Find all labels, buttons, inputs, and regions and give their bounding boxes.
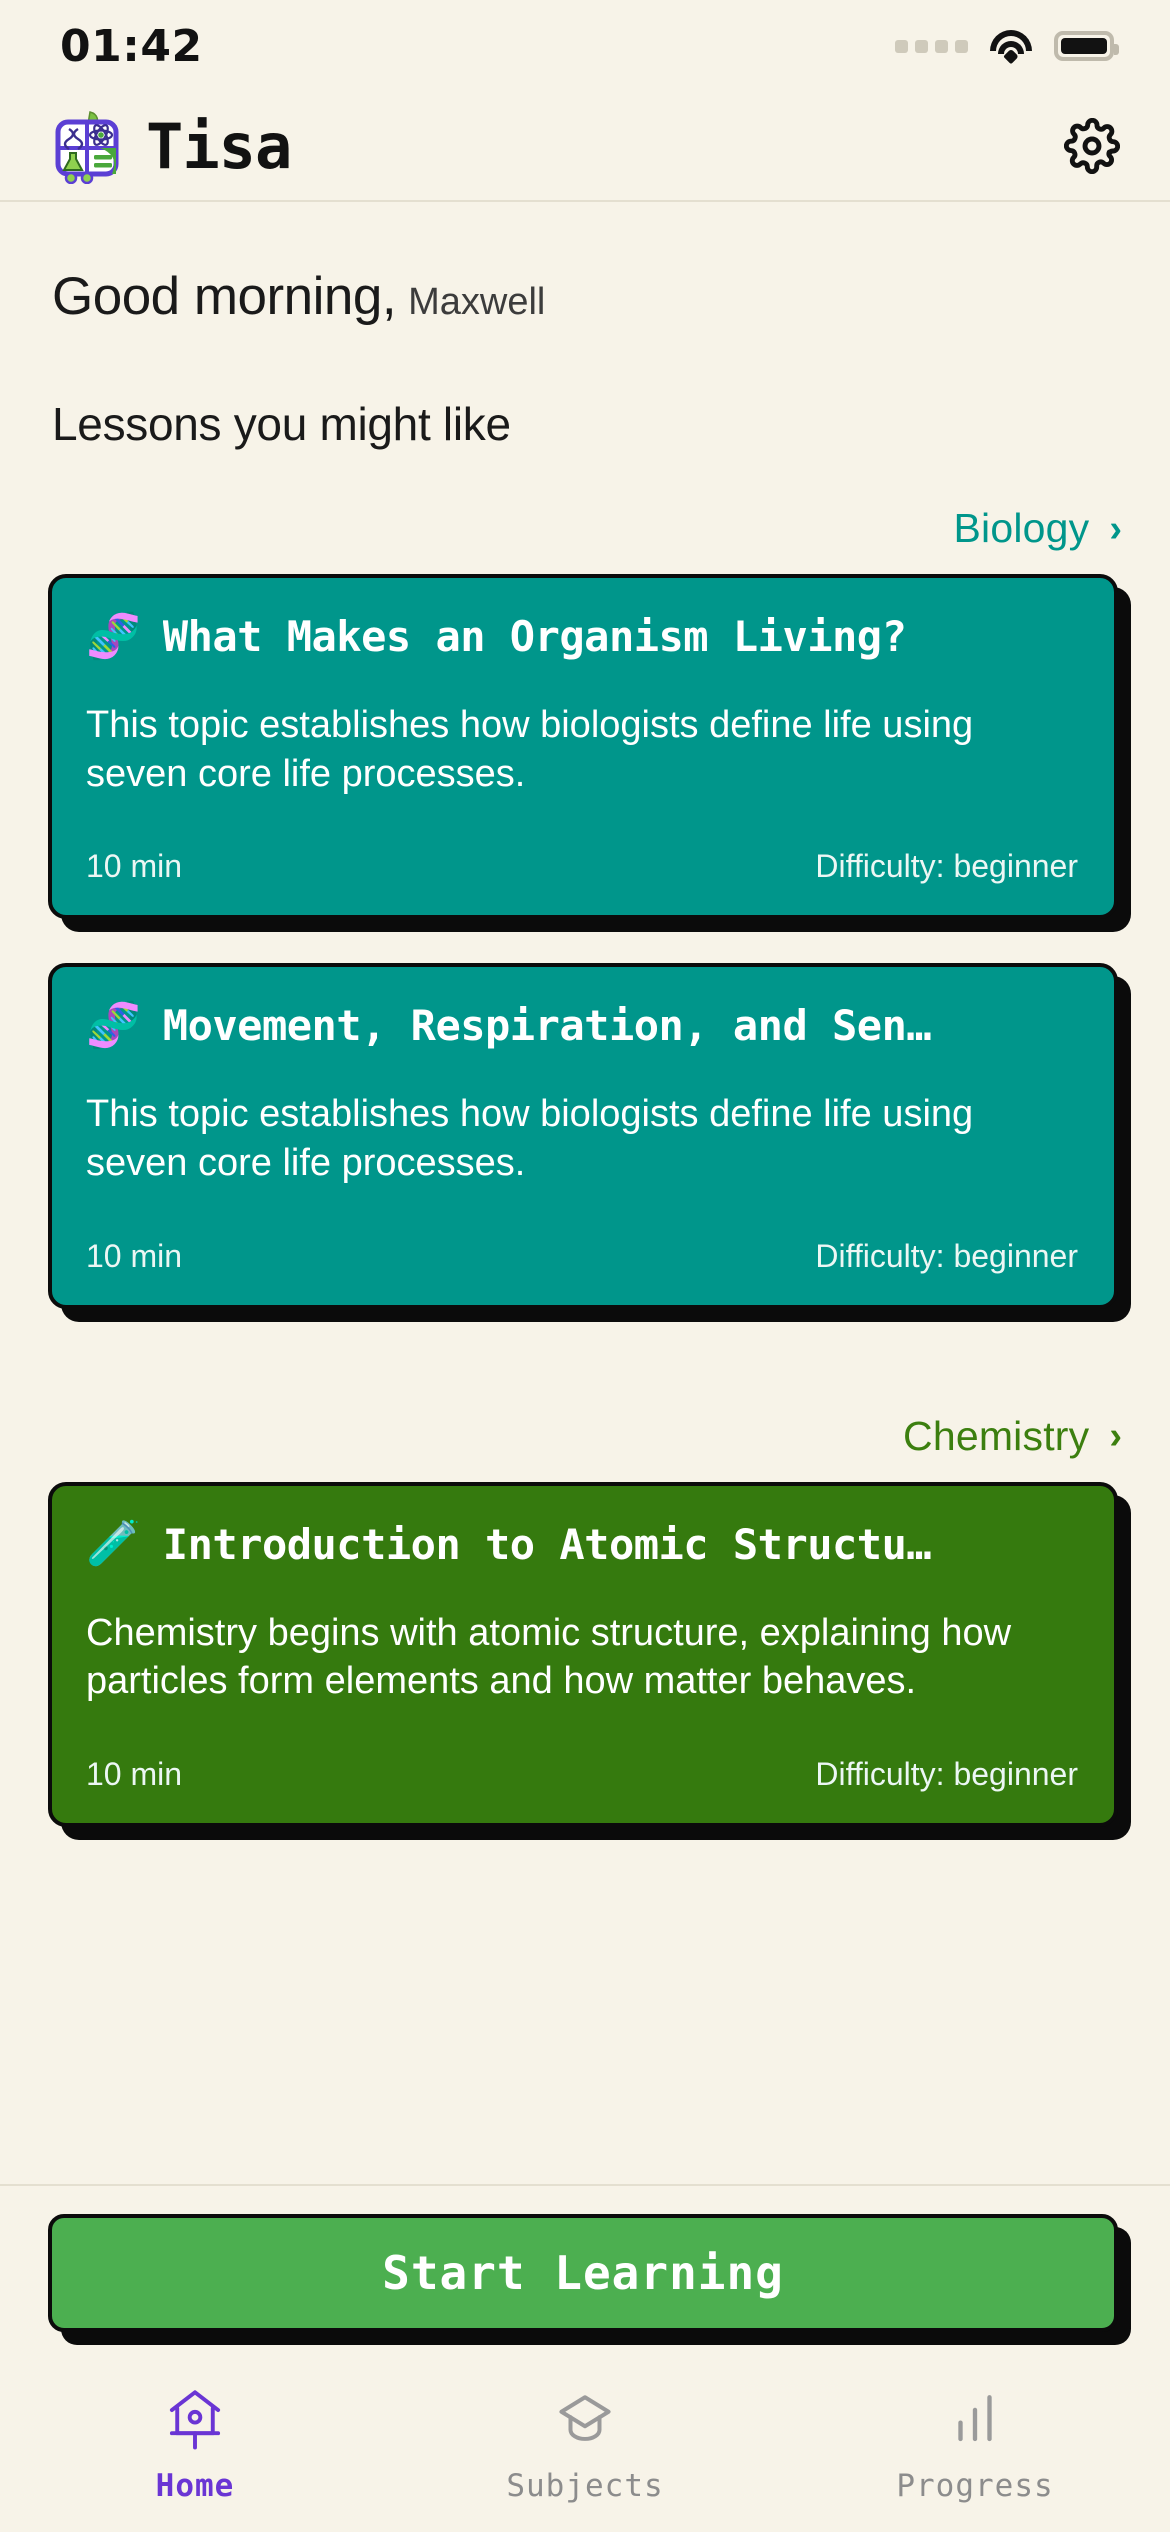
subject-label: Chemistry	[903, 1413, 1089, 1460]
greeting-salutation: Good morning,	[52, 266, 396, 327]
dna-icon: 🧬	[86, 615, 141, 659]
lesson-difficulty: Difficulty: beginner	[815, 848, 1078, 885]
lesson-card[interactable]: 🧪 Introduction to Atomic Structu… Chemis…	[48, 1482, 1118, 1827]
lesson-meta: 10 min Difficulty: beginner	[86, 848, 1078, 885]
lesson-card[interactable]: 🧬 Movement, Respiration, and Sen… This t…	[48, 963, 1118, 1308]
start-learning-label: Start Learning	[382, 2246, 784, 2300]
subject-link-biology[interactable]: Biology ›	[0, 451, 1170, 574]
cta-bar: Start Learning	[0, 2184, 1170, 2362]
greeting-user-name: Maxwell	[408, 281, 545, 324]
tisa-logo-icon	[54, 108, 120, 184]
app-screen: 01:42	[0, 0, 1170, 2532]
battery-full-icon	[1054, 31, 1114, 61]
status-indicators	[895, 30, 1114, 62]
lesson-duration: 10 min	[86, 848, 182, 885]
greeting: Good morning, Maxwell	[0, 202, 1170, 327]
tab-label: Subjects	[506, 2468, 663, 2504]
tab-label: Progress	[896, 2468, 1053, 2504]
lesson-description: This topic establishes how biologists de…	[86, 1090, 1046, 1187]
lesson-card-header: 🧬 Movement, Respiration, and Sen…	[86, 1001, 1078, 1050]
subject-label: Biology	[953, 505, 1089, 552]
gear-icon[interactable]	[1062, 116, 1122, 176]
lesson-duration: 10 min	[86, 1756, 182, 1793]
dna-icon: 🧬	[86, 1004, 141, 1048]
tab-label: Home	[156, 2468, 235, 2504]
lesson-card-header: 🧪 Introduction to Atomic Structu…	[86, 1520, 1078, 1569]
subject-link-chemistry[interactable]: Chemistry ›	[0, 1353, 1170, 1482]
lesson-duration: 10 min	[86, 1238, 182, 1275]
tab-subjects[interactable]: Subjects	[392, 2384, 778, 2504]
bottom-tab-bar: Home Subjects Progress	[0, 2362, 1170, 2532]
status-time: 01:42	[60, 21, 203, 72]
lesson-meta: 10 min Difficulty: beginner	[86, 1756, 1078, 1793]
lesson-card-header: 🧬 What Makes an Organism Living?	[86, 612, 1078, 661]
lesson-difficulty: Difficulty: beginner	[815, 1238, 1078, 1275]
lesson-description: This topic establishes how biologists de…	[86, 701, 1046, 798]
wifi-icon	[990, 30, 1032, 62]
lesson-title: What Makes an Organism Living?	[163, 612, 907, 661]
lesson-difficulty: Difficulty: beginner	[815, 1756, 1078, 1793]
lesson-title: Introduction to Atomic Structu…	[163, 1520, 931, 1569]
chevron-right-icon: ›	[1109, 1417, 1122, 1455]
brand: Tisa	[54, 108, 291, 184]
content-scroll-area[interactable]: Good morning, Maxwell Lessons you might …	[0, 202, 1170, 2184]
page-title: Lessons you might like	[0, 327, 1170, 451]
birdhouse-home-icon	[166, 2384, 224, 2454]
start-learning-button[interactable]: Start Learning	[48, 2214, 1118, 2332]
tab-progress[interactable]: Progress	[782, 2384, 1168, 2504]
lesson-card-wrapper: 🧬 What Makes an Organism Living? This to…	[48, 574, 1118, 919]
lesson-list-biology: 🧬 What Makes an Organism Living? This to…	[0, 574, 1170, 1309]
tab-home[interactable]: Home	[2, 2384, 388, 2504]
signal-dots-icon	[895, 40, 968, 53]
status-bar: 01:42	[0, 0, 1170, 92]
app-title: Tisa	[146, 110, 291, 183]
bar-chart-icon	[946, 2384, 1004, 2454]
chevron-right-icon: ›	[1109, 510, 1122, 548]
lesson-description: Chemistry begins with atomic structure, …	[86, 1609, 1046, 1706]
lesson-meta: 10 min Difficulty: beginner	[86, 1238, 1078, 1275]
lesson-title: Movement, Respiration, and Sen…	[163, 1001, 931, 1050]
lesson-list-chemistry: 🧪 Introduction to Atomic Structu… Chemis…	[0, 1482, 1170, 1871]
app-bar: Tisa	[0, 92, 1170, 202]
lesson-card-wrapper: 🧬 Movement, Respiration, and Sen… This t…	[48, 963, 1118, 1308]
test-tube-icon: 🧪	[86, 1522, 141, 1566]
lesson-card-wrapper: 🧪 Introduction to Atomic Structu… Chemis…	[48, 1482, 1118, 1827]
lesson-card[interactable]: 🧬 What Makes an Organism Living? This to…	[48, 574, 1118, 919]
graduation-cap-icon	[556, 2384, 614, 2454]
